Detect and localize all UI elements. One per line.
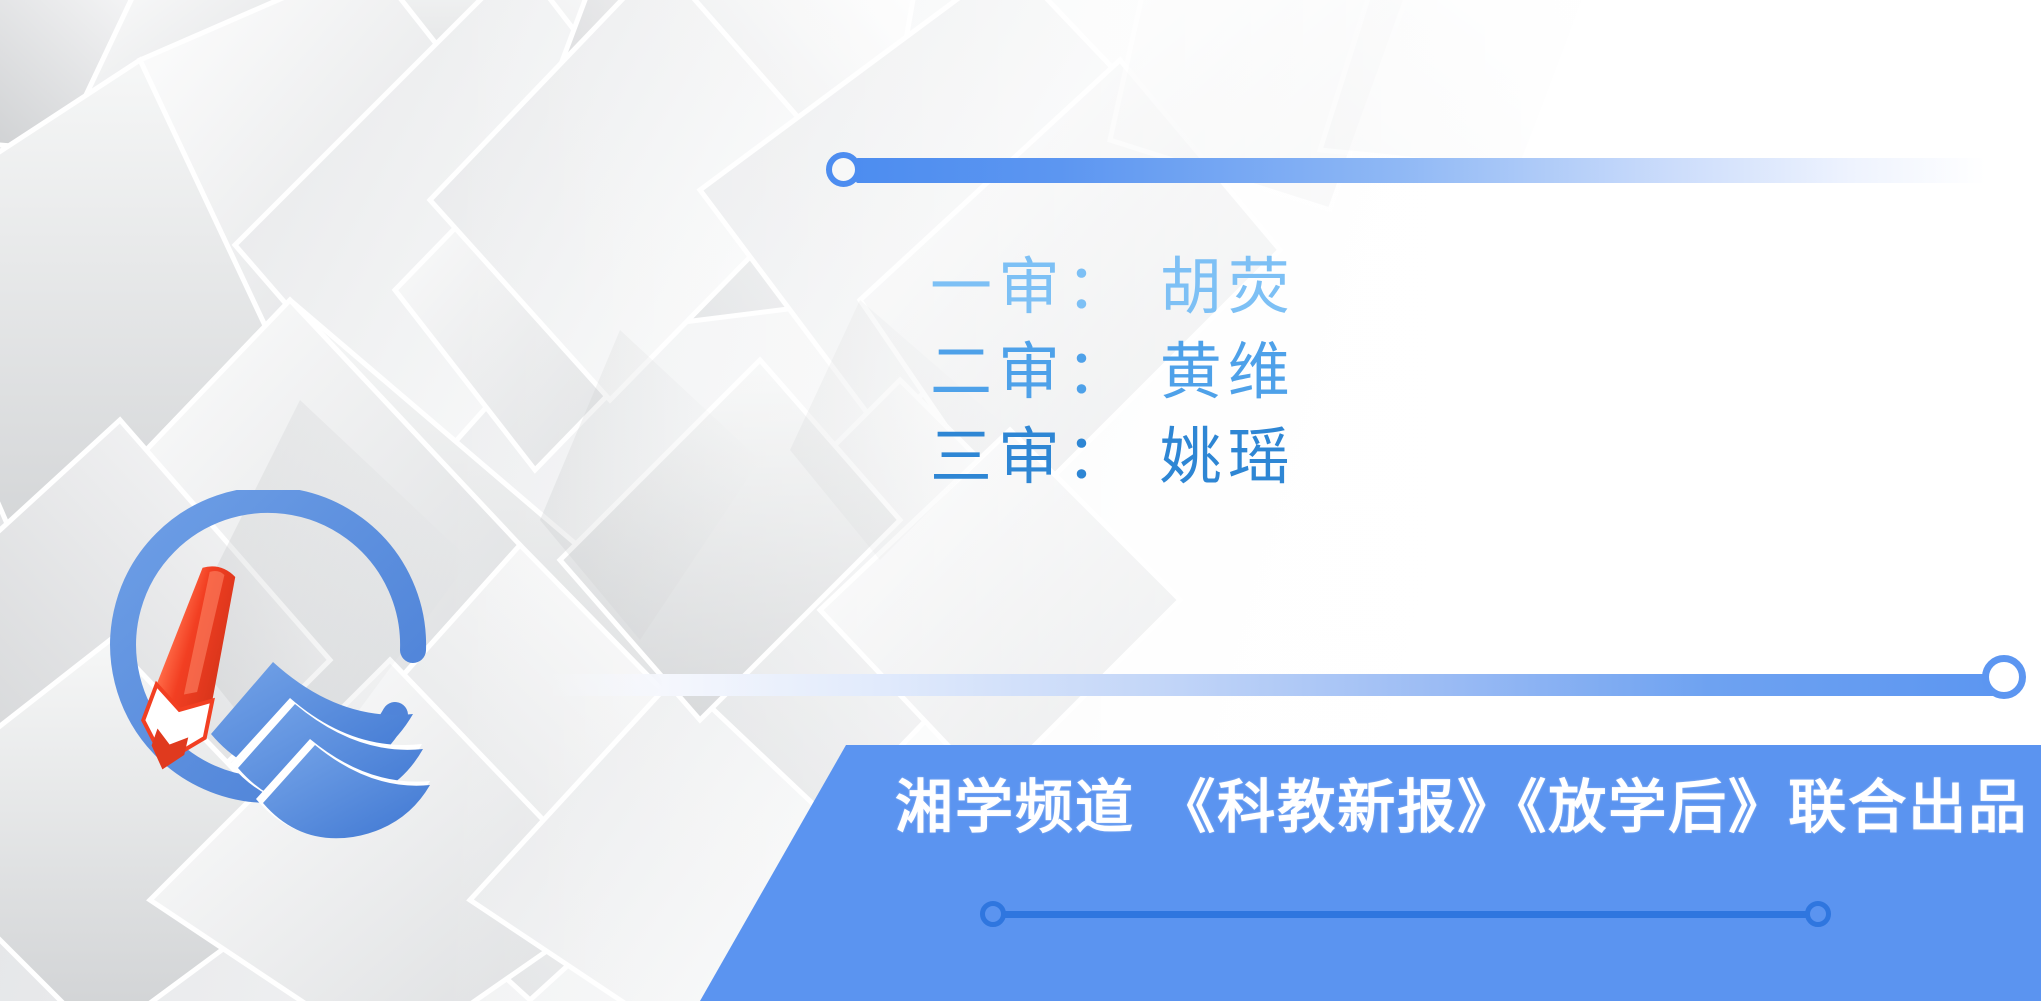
end-card-canvas: 一审： 胡荧 二审： 黄维 三审： 姚瑶 湘学频道 《科教新报》《放学后》联合出… (0, 0, 2041, 1001)
banner-rule-right-dot-icon (1805, 901, 1831, 927)
banner-rule (996, 911, 1814, 918)
banner-shape (0, 0, 2041, 1001)
bottom-banner: 湘学频道 《科教新报》《放学后》联合出品 (0, 0, 2041, 1001)
banner-rule-left-dot-icon (980, 901, 1006, 927)
banner-title: 湘学频道 《科教新报》《放学后》联合出品 (895, 760, 2015, 844)
